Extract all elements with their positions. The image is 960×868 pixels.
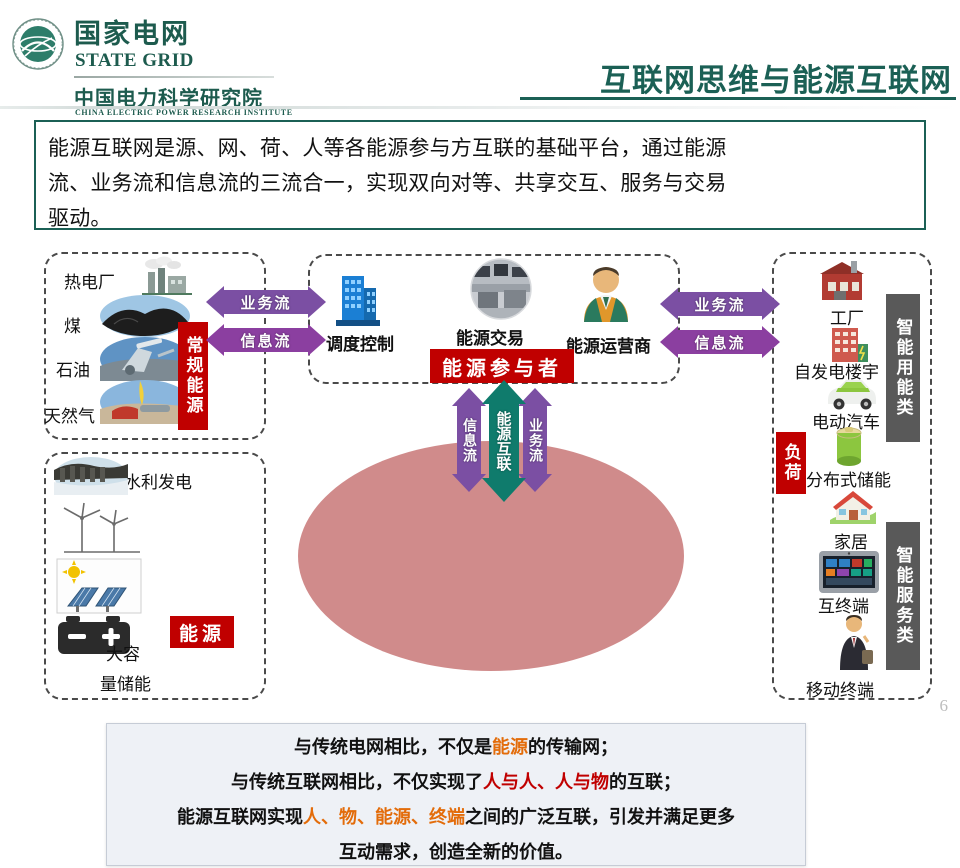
arrow-business-flow-left: 业务流 xyxy=(206,286,326,318)
tag-load: 负荷 xyxy=(776,432,806,494)
brand-block: 国家电网 STATE GRID 中国电力科学研究院 CHINA ELECTRIC… xyxy=(12,16,312,104)
summary-box: 能源互联网是源、网、荷、人等各能源参与方互联的基础平台，通过能源 流、业务流和信… xyxy=(34,120,926,230)
callout-l3-b: 之间的广泛互联，引发并满足更多 xyxy=(465,807,735,828)
item-label-storage-1: 大容 xyxy=(106,640,140,665)
summary-line-2: 流、业务流和信息流的三流合一，实现双向对等、共享交互、服务与交易 xyxy=(48,166,912,201)
tag-smart-service: 智能服务类 xyxy=(886,522,920,670)
tag-smart-energy-use: 智能用能类 xyxy=(886,294,920,442)
operator-person-icon xyxy=(580,264,632,324)
distributed-storage-icon xyxy=(832,426,866,468)
callout-l1-a: 与传统电网相比，不仅是 xyxy=(294,737,492,758)
callout-l3-a: 能源互联网实现 xyxy=(177,807,303,828)
wind-turbine-icon xyxy=(58,502,144,554)
oil-derrick-icon xyxy=(100,336,190,382)
office-building-icon xyxy=(330,270,386,328)
arrow-information-flow-left: 信息流 xyxy=(206,324,326,356)
coal-pile-icon xyxy=(100,294,190,338)
mobile-user-icon xyxy=(834,614,874,672)
callout-l1-b: 的传输网； xyxy=(528,737,618,758)
callout-line-1: 与传统电网相比，不仅是能源的传输网； xyxy=(117,732,795,763)
page-title: 互联网思维与能源互联网 xyxy=(600,55,952,100)
tag-energy: 能源 xyxy=(170,616,234,648)
arrow-label-information-flow-right: 信息流 xyxy=(660,326,780,358)
title-underline xyxy=(520,97,956,100)
callout-l2-b: 的互联； xyxy=(609,772,681,793)
item-label-natural-gas: 天然气 xyxy=(44,402,95,427)
diagram-canvas: 热电厂 煤 石油 天然气 常规能源 水利发电 xyxy=(0,236,960,720)
solar-panel-icon xyxy=(56,558,142,614)
brand-divider xyxy=(74,76,274,78)
item-label-hydro: 水利发电 xyxy=(124,468,192,493)
item-label-mobile-terminal: 移动终端 xyxy=(806,676,874,701)
callout-l2-highlight: 人与人、人与物 xyxy=(483,772,609,793)
arrow-label-business-flow-right: 业务流 xyxy=(660,288,780,320)
electric-car-icon xyxy=(824,376,880,410)
arrow-business-flow-right: 业务流 xyxy=(660,288,780,320)
institute-name-en: CHINA ELECTRIC POWER RESEARCH INSTITUTE xyxy=(75,108,293,117)
brand-name-cn: 国家电网 xyxy=(74,20,190,50)
item-label-energy-operator: 能源运营商 xyxy=(566,332,651,357)
power-plant-icon xyxy=(140,256,194,296)
home-icon xyxy=(828,488,878,526)
summary-line-1: 能源互联网是源、网、荷、人等各能源参与方互联的基础平台，通过能源 xyxy=(48,131,912,166)
header-divider xyxy=(0,106,960,109)
smart-terminal-icon xyxy=(818,550,880,596)
hydro-dam-icon xyxy=(54,456,128,496)
arrow-label-business-flow-left: 业务流 xyxy=(206,286,326,318)
arrow-energy-interconnect: 能源互联 xyxy=(482,380,526,502)
item-label-energy-trading: 能源交易 xyxy=(456,324,524,349)
item-label-oil: 石油 xyxy=(56,356,90,381)
arrow-information-flow-vertical: 信息流 xyxy=(452,388,486,492)
trading-desk-icon xyxy=(470,258,532,320)
tag-energy-participants: 能源参与者 xyxy=(430,349,574,383)
item-label-thermal-plant: 热电厂 xyxy=(64,268,115,293)
tag-conventional-energy: 常规能源 xyxy=(178,322,208,430)
item-label-dispatch-control: 调度控制 xyxy=(326,330,394,355)
item-label-storage-2: 量储能 xyxy=(100,670,151,695)
item-label-coal: 煤 xyxy=(64,312,81,337)
callout-line-2: 与传统互联网相比，不仅实现了人与人、人与物的互联； xyxy=(117,767,795,798)
arrow-label-information-flow-left: 信息流 xyxy=(206,324,326,356)
arrow-information-flow-right: 信息流 xyxy=(660,326,780,358)
factory-icon xyxy=(818,260,866,302)
callout-line-3: 能源互联网实现人、物、能源、终端之间的广泛互联，引发并满足更多 xyxy=(117,802,795,833)
callout-l3-highlight: 人、物、能源、终端 xyxy=(303,807,465,828)
page-number: 6 xyxy=(940,696,949,716)
summary-line-3: 驱动。 xyxy=(48,201,912,236)
callout-l2-a: 与传统互联网相比，不仅实现了 xyxy=(231,772,483,793)
natural-gas-icon xyxy=(100,379,190,425)
slide-header: 国家电网 STATE GRID 中国电力科学研究院 CHINA ELECTRIC… xyxy=(0,0,960,108)
arrow-label-energy-interconnect: 能源互联 xyxy=(482,380,526,502)
brand-name-en: STATE GRID xyxy=(75,50,194,72)
callout-box: 与传统电网相比，不仅是能源的传输网； 与传统互联网相比，不仅实现了人与人、人与物… xyxy=(106,723,806,866)
arrow-label-information-flow-vertical: 信息流 xyxy=(452,388,486,492)
callout-line-4: 互动需求，创造全新的价值。 xyxy=(117,837,795,868)
state-grid-globe-logo xyxy=(12,18,64,70)
callout-l1-highlight: 能源 xyxy=(492,737,528,758)
